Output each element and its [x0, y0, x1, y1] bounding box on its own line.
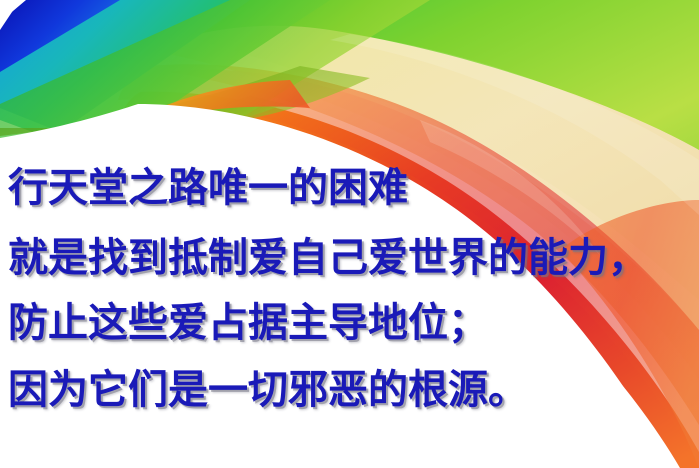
quote-text-block: 行天堂之路唯一的困难 就是找到抵制爱自己爱世界的能力， 防止这些爱占据主导地位；…	[0, 0, 699, 468]
quote-line-3: 防止这些爱占据主导地位；	[8, 303, 488, 343]
poster-canvas: 行天堂之路唯一的困难 就是找到抵制爱自己爱世界的能力， 防止这些爱占据主导地位；…	[0, 0, 699, 468]
quote-line-4: 因为它们是一切邪恶的根源。	[8, 370, 528, 410]
quote-line-2: 就是找到抵制爱自己爱世界的能力，	[8, 238, 648, 278]
quote-line-1: 行天堂之路唯一的困难	[8, 168, 408, 208]
